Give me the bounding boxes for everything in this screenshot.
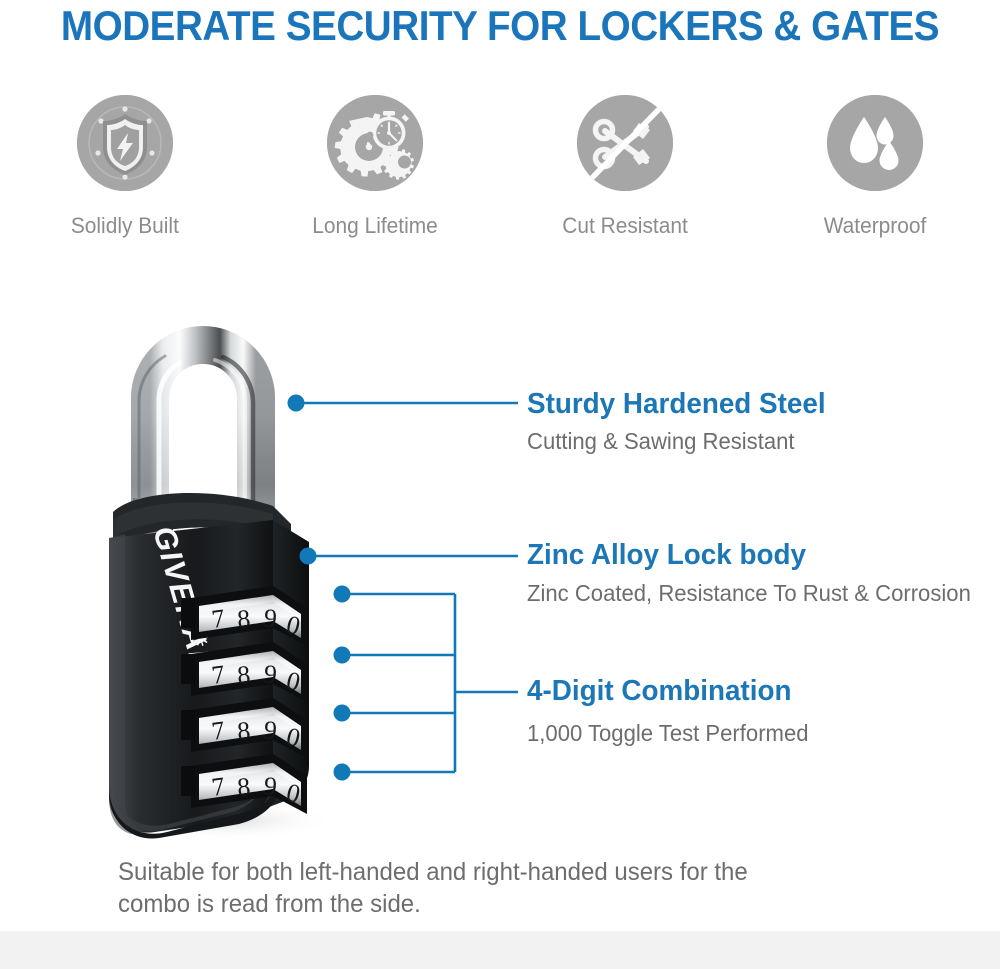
page-title: MODERATE SECURITY FOR LOCKERS & GATES: [40, 0, 960, 52]
feature-label: Solidly Built: [71, 213, 179, 239]
svg-text:8: 8: [236, 604, 251, 634]
no-scissors-icon: [577, 95, 673, 191]
feature-label: Long Lifetime: [312, 213, 437, 239]
callout-heading-zinc-alloy-lock-body: Zinc Alloy Lock body: [527, 539, 806, 572]
feature-label: Cut Resistant: [562, 213, 687, 239]
callout-subtext-zinc-alloy-lock-body: Zinc Coated, Resistance To Rust & Corros…: [527, 580, 971, 607]
callout-subtext-four-digit-combination: 1,000 Toggle Test Performed: [527, 720, 809, 747]
bottom-strip: [0, 931, 1000, 969]
shield-bolt-icon: [77, 95, 173, 191]
caption-line-1: Suitable for both left-handed and right-…: [118, 856, 790, 888]
feature-cut-resistant: Cut Resistant: [500, 95, 750, 275]
product-infographic: MODERATE SECURITY FOR LOCKERS & GATES: [0, 0, 1000, 969]
callout-heading-sturdy-hardened-steel: Sturdy Hardened Steel: [527, 388, 826, 421]
gears-stopwatch-icon: [327, 95, 423, 191]
feature-long-lifetime: Long Lifetime: [250, 95, 500, 275]
svg-text:8: 8: [236, 660, 251, 690]
caption-line-2: combo is read from the side.: [118, 888, 790, 920]
bottom-caption: Suitable for both left-handed and right-…: [118, 856, 790, 920]
padlock-product-image: GIVERARE: [95, 280, 395, 840]
callout-subtext-sturdy-hardened-steel: Cutting & Sawing Resistant: [527, 428, 795, 455]
callout-heading-four-digit-combination: 4-Digit Combination: [527, 675, 791, 708]
feature-label: Waterproof: [824, 213, 927, 239]
feature-solidly-built: Solidly Built: [0, 95, 250, 275]
feature-row: Solidly Built: [0, 95, 1000, 275]
feature-waterproof: Waterproof: [750, 95, 1000, 275]
water-drops-icon: [827, 95, 923, 191]
svg-text:8: 8: [236, 716, 251, 746]
padlock-body: GIVERARE: [109, 493, 309, 839]
svg-text:8: 8: [236, 772, 251, 802]
